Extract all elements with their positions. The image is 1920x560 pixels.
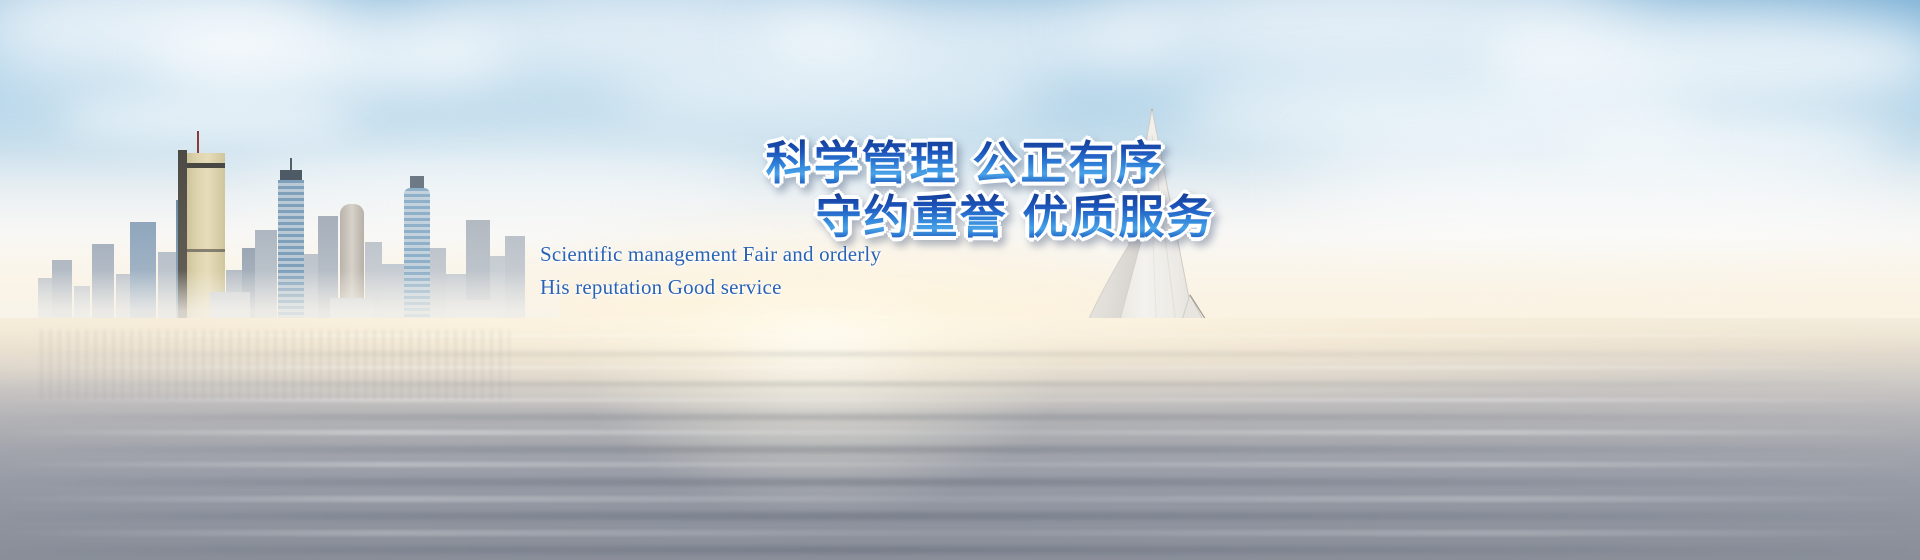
cloud-shape	[620, 60, 1050, 130]
promo-banner: 科学管理 公正有序 守约重誉 优质服务 Scientific managemen…	[0, 0, 1920, 560]
building-crown	[280, 170, 302, 180]
tower-antenna	[197, 131, 199, 153]
city-reflection	[40, 330, 510, 400]
water-ripple	[0, 478, 1920, 486]
water-ripple	[0, 430, 1920, 435]
water-ripple	[0, 462, 1920, 467]
building-crown	[410, 176, 424, 188]
water-ripple	[0, 414, 1920, 420]
tower-cap	[187, 163, 225, 168]
water-ripple	[0, 512, 1920, 520]
tower-band	[178, 249, 225, 252]
subtitle-line-1: Scientific management Fair and orderly	[540, 242, 1040, 267]
water-ripple	[0, 546, 1920, 554]
water-ripple	[0, 496, 1920, 502]
sun-reflection-path	[560, 320, 1080, 520]
building-mast	[290, 158, 292, 170]
water-ripple	[0, 530, 1920, 536]
subtitle-line-2: His reputation Good service	[540, 275, 1040, 300]
water-ripple	[0, 446, 1920, 453]
subtitle-block: Scientific management Fair and orderly H…	[540, 242, 1040, 300]
